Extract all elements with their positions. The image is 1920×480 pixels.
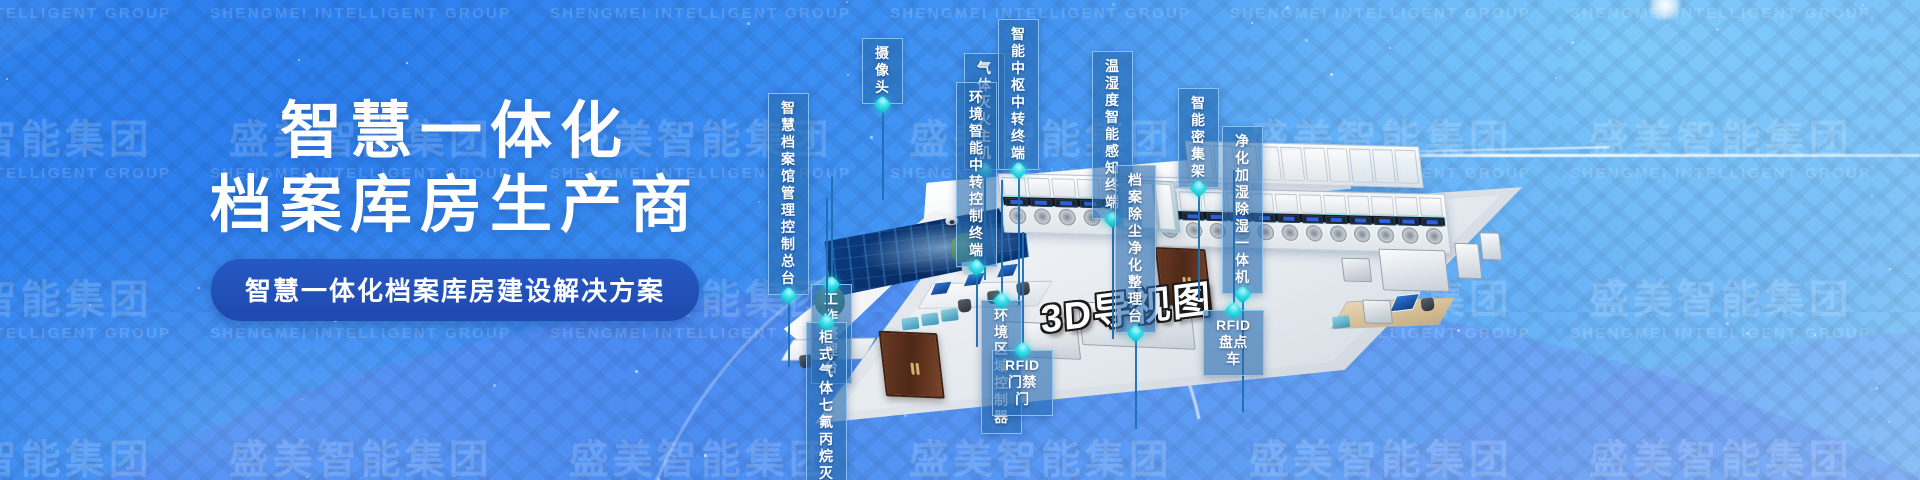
sparkle-dot	[1330, 73, 1333, 76]
callout-stem-camera	[882, 104, 884, 200]
sparkle-dot	[704, 454, 707, 457]
archive-crate	[901, 317, 919, 331]
smart-mobile-rack	[1185, 141, 1424, 188]
printer	[1341, 258, 1372, 283]
callout-label-rfid-cart: RFID盘点车	[1203, 310, 1264, 376]
callout-stem-rfid-cart	[1233, 170, 1235, 310]
callout-label-console: 智慧档案馆管理控制总台	[768, 93, 809, 295]
sparkle-dot	[1112, 3, 1115, 6]
office-chair	[958, 299, 972, 313]
promo-banner: 盛美智能集团SHENGMEI INTELLIGENT GROUP盛美智能集团SH…	[0, 0, 1920, 480]
office-chair	[1420, 297, 1434, 311]
callout-stem-env-relay	[976, 267, 978, 347]
purifier-unit	[1479, 232, 1502, 260]
headline-line-2: 档案库房生产商	[205, 169, 705, 243]
callout-stem-console	[788, 295, 790, 367]
sparkle-dot	[1814, 334, 1816, 336]
sparkle-dot	[408, 73, 409, 74]
sparkle-dot	[1875, 387, 1878, 390]
callout-stem-temp-humid	[1112, 219, 1114, 339]
sparkle-dot	[1746, 332, 1749, 335]
headline-line-1: 智慧一体化	[205, 95, 705, 169]
purifier-unit	[1454, 243, 1482, 279]
dust-clean-station	[1378, 249, 1449, 292]
printer	[1362, 300, 1393, 325]
callout-stem-dust-clean-table	[1135, 333, 1137, 429]
sparkle-dot	[870, 136, 873, 139]
callout-stem-hub-relay	[1018, 170, 1020, 305]
callout-label-rfid-door: RFID门禁门	[992, 350, 1053, 416]
callout-label-dust-clean-table: 档案除尘净化整理台	[1115, 165, 1156, 333]
sparkle-dot	[132, 59, 133, 60]
sparkle-dot	[1888, 421, 1890, 423]
callout-label-hub-relay: 智能中枢中转终端	[998, 19, 1039, 170]
sparkle-dot	[747, 22, 750, 25]
sparkle-dot	[1051, 72, 1052, 73]
callout-label-purifier: 净化加湿除湿一体机	[1222, 126, 1263, 294]
callout-stem-rfid-door	[1022, 232, 1024, 350]
callout-stem-work-table	[831, 176, 833, 284]
sparkle-dot	[1305, 39, 1308, 42]
callout-stem-cabinet-gas	[826, 198, 828, 322]
sparkle-dot	[493, 384, 496, 387]
callout-label-dense-rack: 智能密集架	[1178, 88, 1219, 188]
archive-crate	[941, 308, 959, 322]
sparkle-dot	[1389, 47, 1391, 49]
sparkle-dot	[1286, 6, 1289, 9]
wooden-door	[879, 331, 945, 399]
sparkle-dot	[846, 1, 848, 3]
callout-label-cabinet-gas: 柜式气体七氟丙烷灭火装置	[806, 322, 847, 480]
sparkle-dot	[1555, 77, 1557, 79]
headline-block: 智慧一体化 档案库房生产商 智慧一体化档案库房建设解决方案	[205, 95, 705, 321]
sparkle-dot	[1571, 41, 1574, 44]
sparkle-dot	[847, 74, 849, 76]
callout-stem-env-controller	[1001, 180, 1003, 300]
archive-crate	[921, 312, 939, 326]
callout-label-camera: 摄像头	[862, 38, 903, 104]
sparkle-dot	[1620, 266, 1622, 268]
callout-label-env-relay: 环境智能 中转控制终端	[956, 82, 997, 267]
sparkle-dot	[306, 476, 308, 478]
callout-stem-dense-rack	[1198, 188, 1200, 300]
smart-mobile-rack	[1150, 187, 1452, 254]
subtitle-pill[interactable]: 智慧一体化档案库房建设解决方案	[211, 259, 699, 321]
rfid-cart-crate	[1332, 315, 1350, 329]
